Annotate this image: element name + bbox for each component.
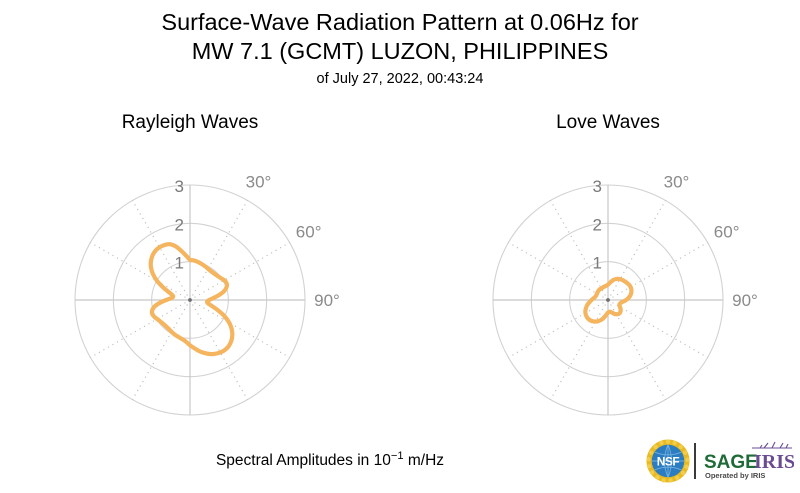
grid-spoke-30 <box>608 200 666 300</box>
panel-rayleigh-waves: Rayleigh Waves 12330°60°90° <box>0 0 400 440</box>
logo-divider <box>694 443 696 479</box>
grid-spoke-240 <box>508 300 608 358</box>
r-tick-label-2: 2 <box>593 215 602 234</box>
caption-suffix: m/Hz <box>404 452 444 469</box>
sage-wordmark: SAGE <box>704 452 758 473</box>
polar-plot-love: 12330°60°90° <box>400 0 800 440</box>
nsf-logo-icon: NSF <box>646 439 690 483</box>
theta-tick-label-60: 60° <box>714 223 740 242</box>
r-tick-label-3: 3 <box>175 177 184 196</box>
spectral-amplitude-caption: Spectral Amplitudes in 10−1 m/Hz <box>0 450 660 470</box>
caption-prefix: Spectral Amplitudes in 10 <box>216 452 391 469</box>
grid-spoke-120 <box>608 300 708 358</box>
theta-tick-label-60: 60° <box>296 223 322 242</box>
theta-tick-label-30: 30° <box>246 172 272 191</box>
theta-tick-label-90: 90° <box>314 291 340 310</box>
grid-spoke-120 <box>190 300 290 358</box>
grid-spoke-60 <box>190 243 290 301</box>
r-tick-label-1: 1 <box>175 254 184 273</box>
iris-wordmark: IRIS <box>754 451 794 473</box>
theta-tick-label-30: 30° <box>664 172 690 191</box>
logo-bar: NSF SAGE IRIS Operated by IRIS <box>646 436 794 486</box>
grid-spoke-210 <box>551 300 609 400</box>
grid-spoke-240 <box>90 300 190 358</box>
caption-exponent: −1 <box>391 450 404 462</box>
svg-text:NSF: NSF <box>657 454 680 468</box>
grid-spoke-210 <box>133 300 191 400</box>
grid-spoke-60 <box>608 243 708 301</box>
polar-axes: 12330°60°90° <box>0 0 400 440</box>
grid-spoke-30 <box>190 200 248 300</box>
origin-marker <box>188 298 192 302</box>
r-tick-label-1: 1 <box>593 254 602 273</box>
operated-by-label: Operated by IRIS <box>705 471 765 480</box>
polar-plot-rayleigh: 12330°60°90° <box>0 0 400 440</box>
origin-marker <box>606 298 610 302</box>
r-tick-label-3: 3 <box>593 177 602 196</box>
sage-iris-logo: SAGE IRIS Operated by IRIS <box>702 440 794 482</box>
r-tick-label-2: 2 <box>175 215 184 234</box>
polar-axes: 12330°60°90° <box>400 0 800 440</box>
theta-tick-label-90: 90° <box>732 291 758 310</box>
panel-love-waves: Love Waves 12330°60°90° <box>400 0 800 440</box>
